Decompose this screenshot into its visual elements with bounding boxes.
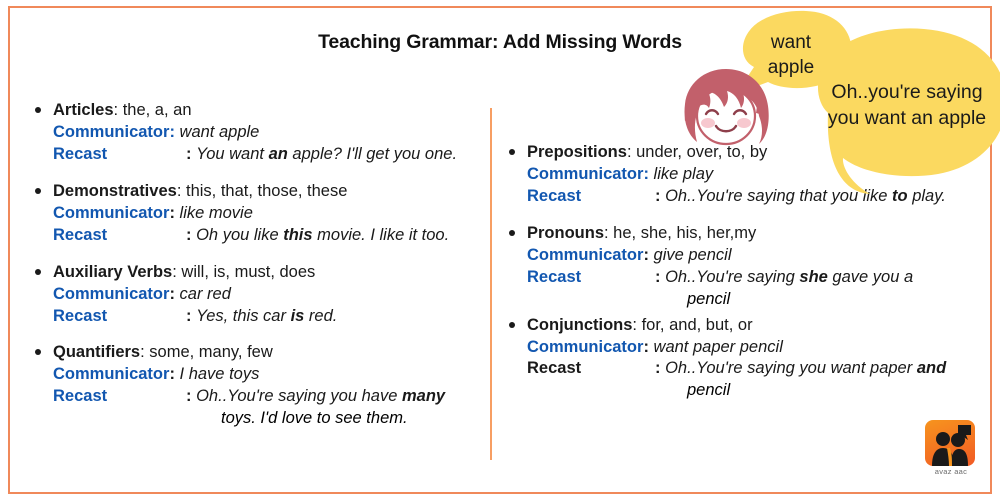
communicator-label: Communicator bbox=[53, 122, 169, 144]
avaz-logo[interactable]: avaz aac bbox=[925, 420, 977, 482]
recast-value: Oh..You're saying you want paper and bbox=[665, 359, 946, 377]
category-line: Demonstratives: this, that, those, these bbox=[53, 181, 481, 203]
left-column: Articles: the, a, an Communicator: want … bbox=[26, 100, 481, 445]
communicator-label: Communicator bbox=[53, 203, 169, 225]
communicator-line: Communicator: give pencil bbox=[527, 245, 978, 267]
recast-colon: : bbox=[186, 387, 192, 405]
recast-highlight: this bbox=[283, 226, 312, 244]
category-examples: : for, and, but, or bbox=[632, 316, 752, 334]
logo-person-side-head bbox=[951, 433, 965, 447]
bullet-icon bbox=[509, 230, 515, 236]
recast-highlight: an bbox=[269, 145, 288, 163]
recast-pre: Yes, this car bbox=[196, 307, 290, 325]
communicator-value: give pencil bbox=[654, 246, 732, 264]
recast-continuation: toys. I'd love to see them. bbox=[53, 408, 481, 430]
communicator-colon: : bbox=[643, 338, 649, 356]
category-examples: : the, a, an bbox=[114, 101, 192, 119]
list-item: Demonstratives: this, that, those, these… bbox=[26, 181, 481, 247]
slide-canvas: Teaching Grammar: Add Missing Words Arti… bbox=[0, 0, 1000, 500]
category-name: Articles bbox=[53, 101, 114, 119]
communicator-label: Communicator bbox=[53, 284, 169, 306]
recast-pre: Oh..You're saying you want paper bbox=[665, 359, 917, 377]
cheek-left bbox=[701, 118, 715, 128]
communicator-value: car red bbox=[180, 285, 231, 303]
child-avatar-icon bbox=[679, 66, 773, 154]
recast-post: apple? I'll get you one. bbox=[288, 145, 457, 163]
recast-post: red. bbox=[304, 307, 337, 325]
bullet-icon bbox=[35, 188, 41, 194]
category-line: Articles: the, a, an bbox=[53, 100, 481, 122]
recast-line: Recast: Oh..You're saying you want paper… bbox=[527, 358, 978, 380]
avaz-logo-caption: avaz aac bbox=[925, 467, 977, 476]
recast-label: Recast bbox=[527, 267, 655, 289]
recast-highlight: she bbox=[799, 268, 827, 286]
recast-line: Recast: Oh..You're saying you have many bbox=[53, 386, 481, 408]
communicator-value: I have toys bbox=[180, 365, 260, 383]
category-line: Auxiliary Verbs: will, is, must, does bbox=[53, 262, 481, 284]
category-line: Pronouns: he, she, his, her,my bbox=[527, 223, 978, 245]
category-name: Conjunctions bbox=[527, 316, 632, 334]
list-item: Quantifiers: some, many, few Communicato… bbox=[26, 342, 481, 430]
communicator-colon: : bbox=[169, 123, 175, 141]
bullet-icon bbox=[509, 149, 515, 155]
recast-label: Recast bbox=[53, 225, 186, 247]
category-name: Auxiliary Verbs bbox=[53, 263, 172, 281]
category-line: Quantifiers: some, many, few bbox=[53, 342, 481, 364]
communicator-colon: : bbox=[169, 365, 175, 383]
communicator-value: like play bbox=[654, 165, 714, 183]
avaz-logo-glyph bbox=[925, 420, 975, 466]
communicator-value: like movie bbox=[180, 204, 253, 222]
communicator-label: Communicator bbox=[527, 337, 643, 359]
category-name: Demonstratives bbox=[53, 182, 177, 200]
bullet-icon bbox=[35, 349, 41, 355]
communicator-label: Communicator bbox=[53, 364, 169, 386]
recast-continuation: pencil bbox=[527, 289, 978, 311]
communicator-label: Communicator bbox=[527, 164, 643, 186]
logo-person-front-head bbox=[936, 432, 950, 446]
communicator-line: Communicator: want paper pencil bbox=[527, 337, 978, 359]
recast-pre: You want bbox=[196, 145, 268, 163]
communicator-line: Communicator: want apple bbox=[53, 122, 481, 144]
recast-post: gave you a bbox=[828, 268, 913, 286]
recast-pre: Oh you like bbox=[196, 226, 283, 244]
list-item: Articles: the, a, an Communicator: want … bbox=[26, 100, 481, 166]
recast-value: Oh you like this movie. I like it too. bbox=[196, 226, 449, 244]
column-divider bbox=[490, 108, 492, 460]
list-item: Auxiliary Verbs: will, is, must, does Co… bbox=[26, 262, 481, 328]
recast-label: Recast bbox=[53, 306, 186, 328]
recast-colon: : bbox=[186, 307, 192, 325]
avaz-logo-mark bbox=[925, 420, 975, 466]
recast-label: Recast bbox=[527, 186, 655, 208]
recast-highlight: is bbox=[291, 307, 305, 325]
bullet-icon bbox=[35, 107, 41, 113]
communicator-colon: : bbox=[643, 165, 649, 183]
recast-line: Recast: Oh you like this movie. I like i… bbox=[53, 225, 481, 247]
recast-label: Recast bbox=[53, 386, 186, 408]
recast-value: Oh..You're saying she gave you a bbox=[665, 268, 913, 286]
recast-colon: : bbox=[186, 145, 192, 163]
recast-pre: Oh..You're saying bbox=[665, 268, 799, 286]
recast-highlight: many bbox=[402, 387, 445, 405]
category-name: Pronouns bbox=[527, 224, 604, 242]
recast-value: Yes, this car is red. bbox=[196, 307, 337, 325]
communicator-colon: : bbox=[643, 246, 649, 264]
recast-label: Recast bbox=[53, 144, 186, 166]
category-examples: : this, that, those, these bbox=[177, 182, 348, 200]
communicator-value: want apple bbox=[180, 123, 260, 141]
category-line: Conjunctions: for, and, but, or bbox=[527, 315, 978, 337]
recast-line: Recast: Oh..You're saying she gave you a bbox=[527, 267, 978, 289]
category-name: Prepositions bbox=[527, 143, 627, 161]
recast-continuation: pencil bbox=[527, 380, 978, 402]
communicator-label: Communicator bbox=[527, 245, 643, 267]
recast-pre: Oh..You're saying you have bbox=[196, 387, 402, 405]
cheek-right bbox=[737, 118, 751, 128]
bullet-icon bbox=[509, 322, 515, 328]
recast-post: movie. I like it too. bbox=[313, 226, 450, 244]
logo-person-side-body bbox=[951, 449, 968, 466]
recast-line: Recast: Yes, this car is red. bbox=[53, 306, 481, 328]
category-examples: : will, is, must, does bbox=[172, 263, 315, 281]
communicator-line: Communicator: I have toys bbox=[53, 364, 481, 386]
recast-colon: : bbox=[655, 187, 661, 205]
communicator-line: Communicator: like movie bbox=[53, 203, 481, 225]
communicator-colon: : bbox=[169, 285, 175, 303]
category-examples: : some, many, few bbox=[140, 343, 273, 361]
recast-value: Oh..You're saying you have many bbox=[196, 387, 445, 405]
bullet-icon bbox=[35, 269, 41, 275]
recast-colon: : bbox=[186, 226, 192, 244]
recast-line: Recast: You want an apple? I'll get you … bbox=[53, 144, 481, 166]
recast-colon: : bbox=[655, 359, 661, 377]
category-examples: : he, she, his, her,my bbox=[604, 224, 756, 242]
adult-speech-text: Oh..you're saying you want an apple bbox=[822, 79, 992, 132]
communicator-value: want paper pencil bbox=[654, 338, 783, 356]
recast-value: You want an apple? I'll get you one. bbox=[196, 145, 457, 163]
communicator-colon: : bbox=[169, 204, 175, 222]
category-name: Quantifiers bbox=[53, 343, 140, 361]
communicator-line: Communicator: car red bbox=[53, 284, 481, 306]
list-item: Pronouns: he, she, his, her,my Communica… bbox=[500, 223, 978, 311]
recast-highlight: and bbox=[917, 359, 946, 377]
recast-label: Recast bbox=[527, 358, 655, 380]
list-item: Conjunctions: for, and, but, or Communic… bbox=[500, 315, 978, 403]
recast-colon: : bbox=[655, 268, 661, 286]
